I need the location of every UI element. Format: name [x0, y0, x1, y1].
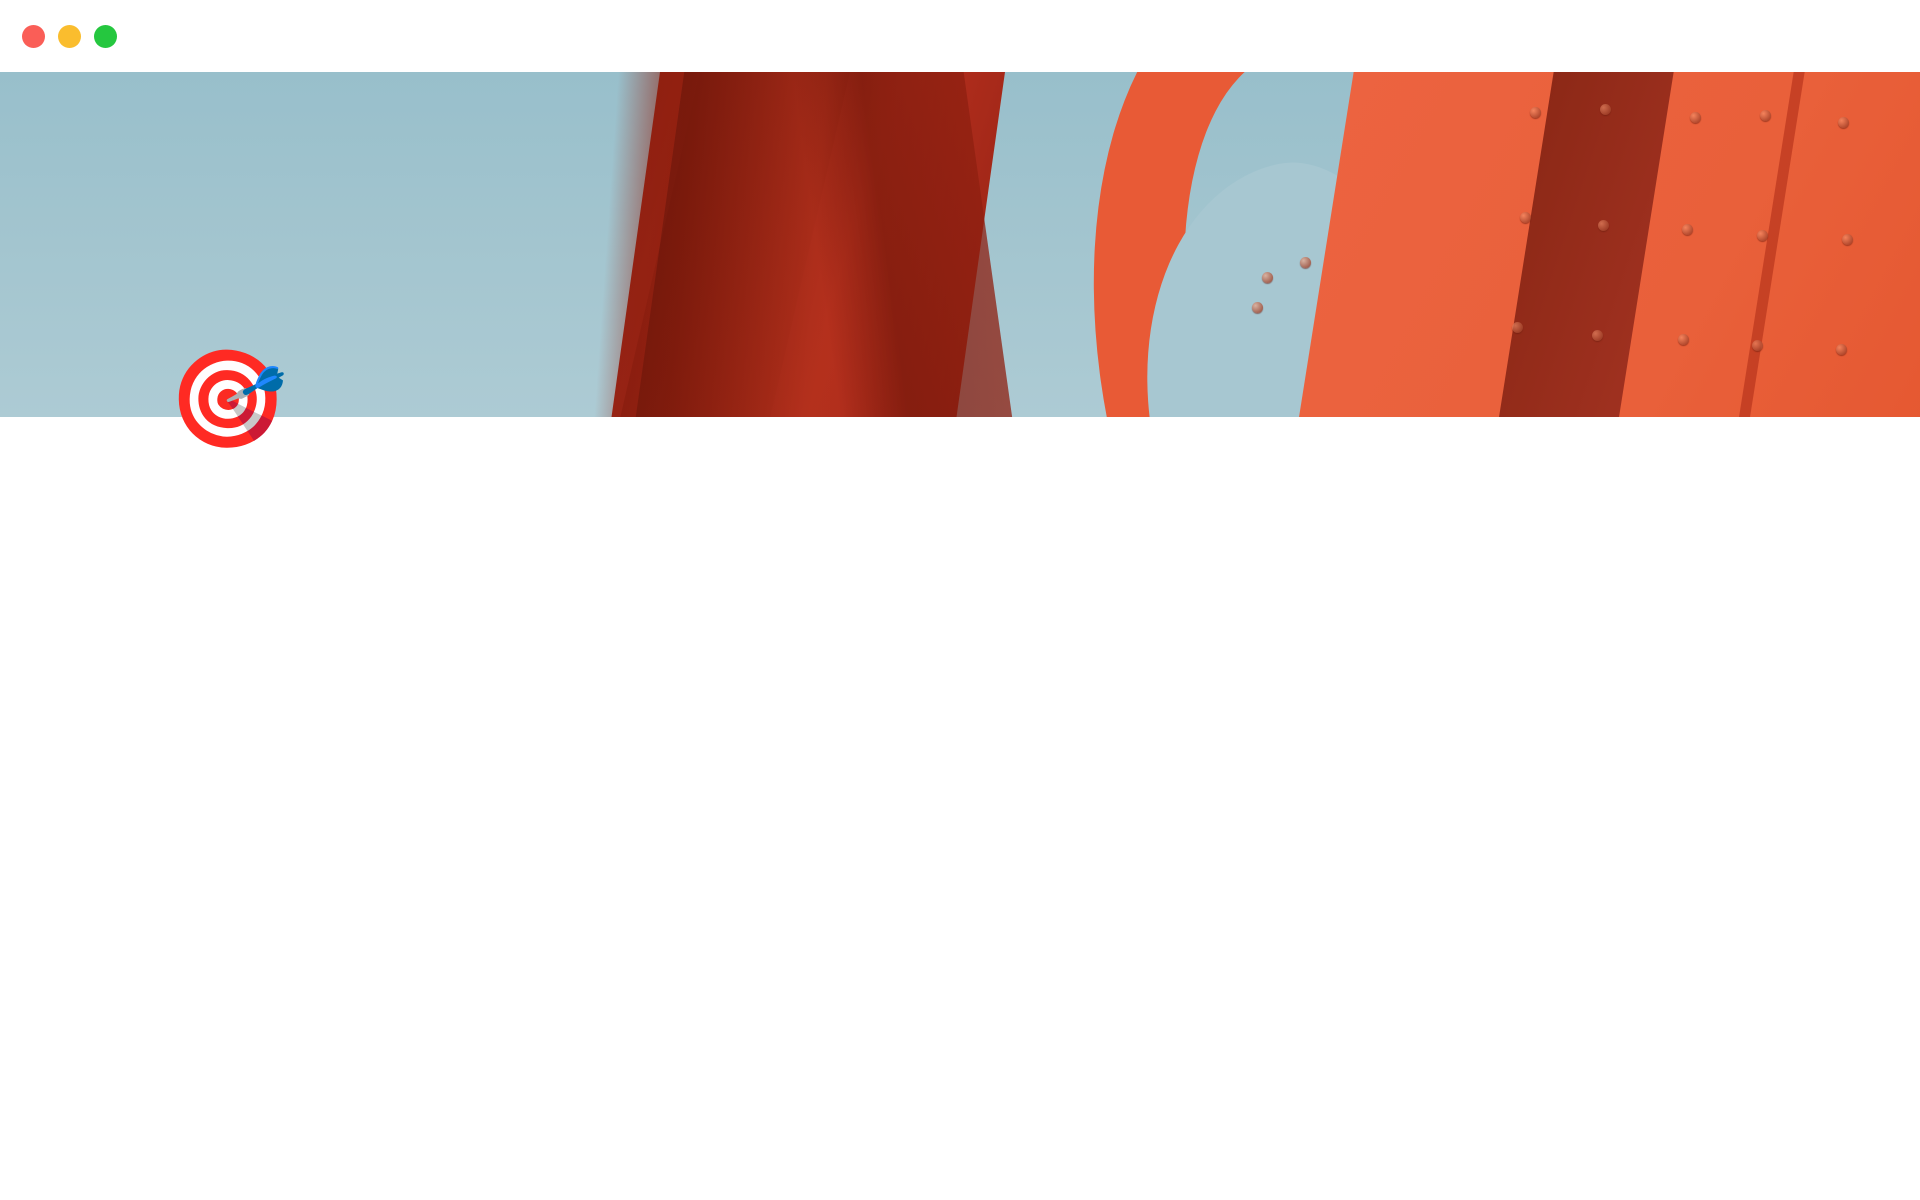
window-maximize-button[interactable]: [94, 25, 117, 48]
window-close-button[interactable]: [22, 25, 45, 48]
document-body: [0, 417, 1920, 1200]
window-titlebar: [0, 0, 1920, 72]
window-traffic-lights: [22, 25, 117, 48]
app-window: 🎯 Performance improvement plan 📋 Manager…: [0, 0, 1920, 1200]
page-cover-image[interactable]: [0, 72, 1920, 417]
bridge-rivets: [0, 72, 1920, 417]
dart-target-emoji-icon[interactable]: 🎯: [168, 352, 288, 448]
window-minimize-button[interactable]: [58, 25, 81, 48]
